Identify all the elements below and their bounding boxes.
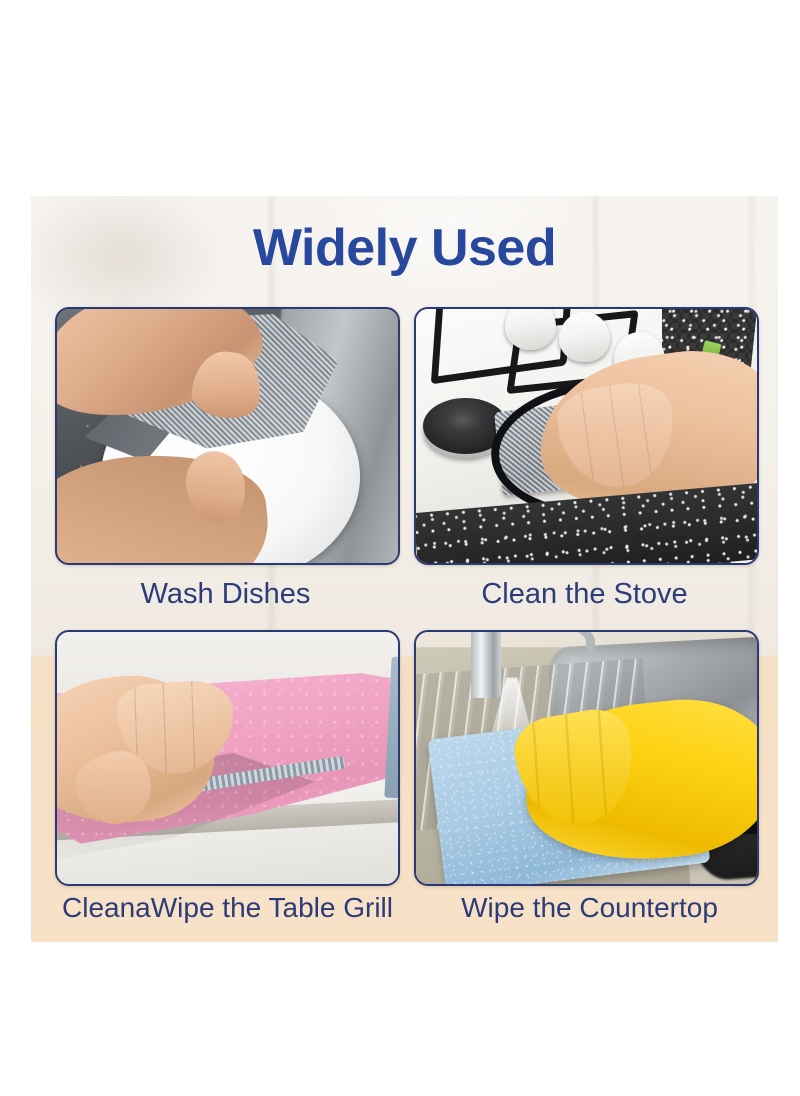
photo-clean-the-stove (416, 309, 757, 563)
caption-clean-the-stove: Clean the Stove (414, 578, 755, 611)
photo-tile-wipe-the-countertop[interactable] (414, 630, 759, 886)
stove-knob-1 (505, 307, 556, 350)
photo-tile-wash-dishes[interactable] (55, 307, 400, 565)
stove-knob-2 (559, 312, 610, 363)
infographic-panel: Widely Used (31, 196, 778, 942)
infographic-page: Widely Used (0, 0, 800, 1096)
caption-wash-dishes: Wash Dishes (55, 578, 396, 611)
caption-wipe-the-countertop: Wipe the Countertop (412, 892, 767, 924)
photo-tile-wipe-the-table-grill[interactable] (55, 630, 400, 886)
page-title: Widely Used (31, 218, 778, 278)
faucet-body (471, 630, 502, 698)
photo-tile-clean-the-stove[interactable] (414, 307, 759, 565)
photo-wash-dishes (57, 309, 398, 563)
photo-wipe-the-countertop (416, 632, 757, 884)
caption-wipe-the-table-grill: CleanaWipe the Table Grill (45, 892, 410, 924)
photo-wipe-the-table-grill (57, 632, 398, 884)
